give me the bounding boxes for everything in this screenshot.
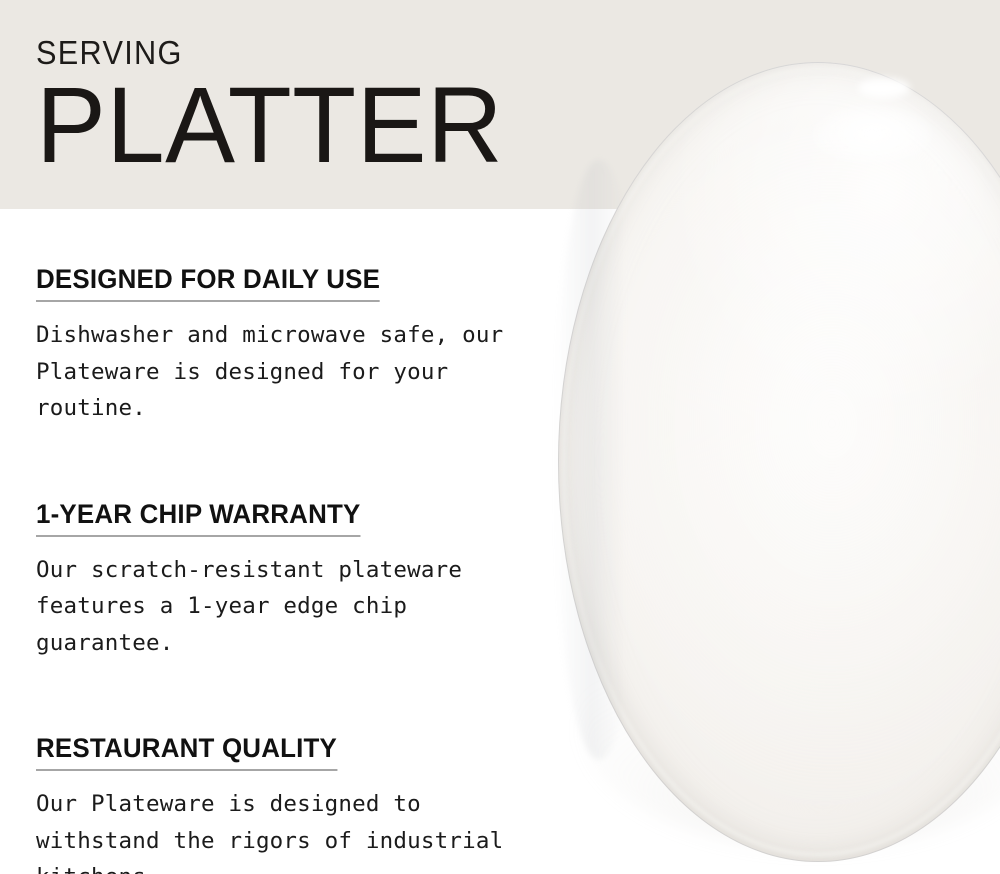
feature-body: Our scratch-resistant plateware features… (36, 552, 516, 661)
page-title: PLATTER (36, 75, 503, 174)
feature-block-chip-warranty: 1-YEAR CHIP WARRANTY Our scratch-resista… (36, 499, 526, 662)
feature-body: Our Plateware is designed to withstand t… (36, 786, 516, 874)
feature-block-daily-use: DESIGNED FOR DAILY USE Dishwasher and mi… (36, 264, 526, 427)
plate-highlight (812, 108, 932, 164)
feature-heading: RESTAURANT QUALITY (36, 733, 337, 771)
plate-specular-highlight (858, 78, 910, 98)
feature-block-restaurant-quality: RESTAURANT QUALITY Our Plateware is desi… (36, 733, 526, 874)
product-photo-platter (540, 0, 1000, 874)
feature-body: Dishwasher and microwave safe, our Plate… (36, 317, 516, 426)
header-text-group: SERVING PLATTER (36, 36, 518, 174)
product-feature-panel: SERVING PLATTER DESIGNED FOR DAILY USE D… (0, 0, 1000, 874)
feature-heading: 1-YEAR CHIP WARRANTY (36, 499, 361, 537)
feature-list: DESIGNED FOR DAILY USE Dishwasher and mi… (36, 264, 526, 874)
feature-heading: DESIGNED FOR DAILY USE (36, 264, 380, 302)
plate-left-edge-shading (554, 160, 644, 760)
